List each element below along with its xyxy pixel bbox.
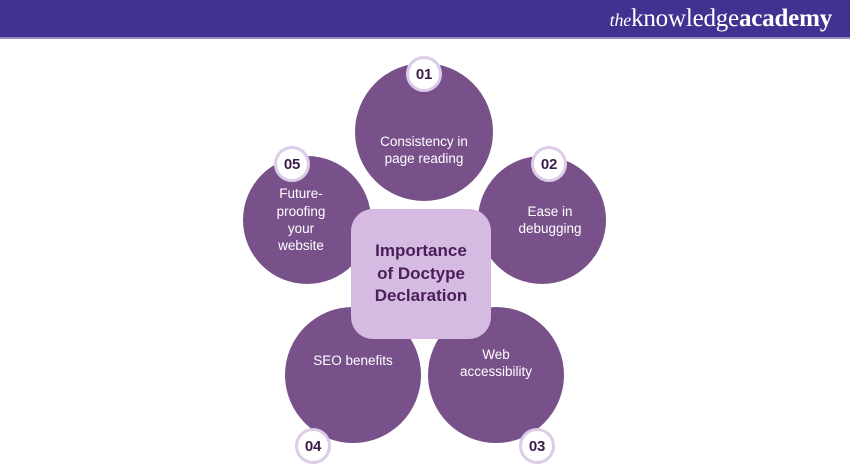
petal-diagram: Consistency in page reading Ease in debu… [0, 39, 850, 450]
petal-label: SEO benefits [301, 352, 405, 369]
petal-label: Consistency in page reading [368, 133, 480, 168]
badge-number: 05 [284, 157, 300, 172]
brand-logo-academy: academy [739, 5, 832, 32]
petal-label: Web accessibility [448, 346, 544, 381]
badge-01[interactable]: 01 [406, 56, 442, 92]
badge-05[interactable]: 05 [274, 146, 310, 182]
badge-number: 02 [541, 157, 557, 172]
header-band: theknowledgeacademy [0, 0, 850, 37]
brand-logo: theknowledgeacademy [610, 6, 832, 31]
badge-04[interactable]: 04 [295, 428, 331, 464]
brand-logo-the: the [610, 10, 631, 30]
badge-number: 01 [416, 67, 432, 82]
badge-02[interactable]: 02 [531, 146, 567, 182]
petal-label: Future- proofing your website [265, 185, 338, 254]
center-title-card: Importance of Doctype Declaration [351, 209, 491, 339]
badge-number: 04 [305, 439, 321, 454]
brand-logo-knowledge: knowledge [631, 5, 739, 32]
badge-03[interactable]: 03 [519, 428, 555, 464]
infographic-page: theknowledgeacademy Consistency in page … [0, 0, 850, 450]
petal-label: Ease in debugging [506, 203, 593, 238]
center-title-label: Importance of Doctype Declaration [367, 240, 476, 308]
badge-number: 03 [529, 439, 545, 454]
